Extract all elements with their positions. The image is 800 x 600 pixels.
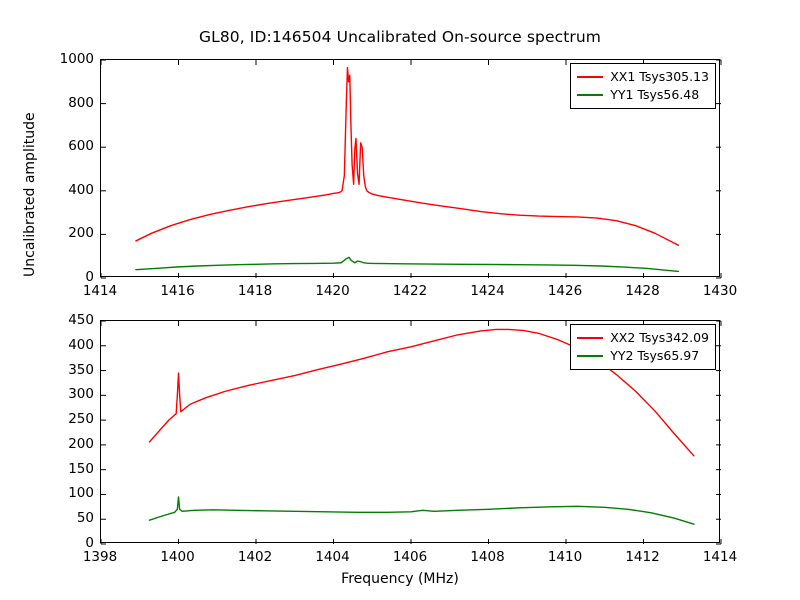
x-tick-label: 1414 <box>703 549 737 565</box>
data-series-line <box>149 497 693 524</box>
x-tick-label: 1402 <box>238 549 272 565</box>
y-tick-label: 400 <box>34 182 94 198</box>
data-series-line <box>136 257 679 271</box>
y-tick-label: 0 <box>34 269 94 285</box>
legend-top: XX1 Tsys305.13YY1 Tsys56.48 <box>570 63 716 109</box>
y-tick-label: 350 <box>34 362 94 378</box>
y-tick-label: 600 <box>34 138 94 154</box>
figure-canvas: GL80, ID:146504 Uncalibrated On-source s… <box>0 0 800 600</box>
y-tick-label: 450 <box>34 312 94 328</box>
y-tick-label: 400 <box>34 337 94 353</box>
x-tick-label: 1404 <box>315 549 349 565</box>
y-tick-label: 800 <box>34 95 94 111</box>
x-tick-label: 1418 <box>238 283 272 299</box>
x-tick-label: 1430 <box>703 283 737 299</box>
x-tick-label: 1428 <box>625 283 659 299</box>
legend-label: XX2 Tsys342.09 <box>610 329 709 347</box>
legend-item[interactable]: XX2 Tsys342.09 <box>577 329 709 347</box>
legend-label: YY1 Tsys56.48 <box>610 86 699 104</box>
x-tick-label: 1410 <box>548 549 582 565</box>
y-tick-label: 0 <box>34 535 94 551</box>
x-tick-label: 1412 <box>625 549 659 565</box>
y-tick-label: 200 <box>34 436 94 452</box>
legend-item[interactable]: YY1 Tsys56.48 <box>577 86 709 104</box>
legend-bottom: XX2 Tsys342.09YY2 Tsys65.97 <box>570 324 716 370</box>
legend-label: YY2 Tsys65.97 <box>610 347 699 365</box>
y-tick-label: 200 <box>34 225 94 241</box>
x-tick-label: 1416 <box>160 283 194 299</box>
x-tick-label: 1426 <box>548 283 582 299</box>
x-tick-label: 1408 <box>470 549 504 565</box>
y-tick-label: 1000 <box>34 51 94 67</box>
x-axis-label: Frequency (MHz) <box>0 571 800 587</box>
legend-item[interactable]: YY2 Tsys65.97 <box>577 347 709 365</box>
page-title: GL80, ID:146504 Uncalibrated On-source s… <box>0 28 800 46</box>
x-tick-label: 1414 <box>83 283 117 299</box>
y-tick-label: 250 <box>34 411 94 427</box>
legend-color-swatch <box>577 76 603 78</box>
x-tick-label: 1424 <box>470 283 504 299</box>
x-tick-label: 1400 <box>160 549 194 565</box>
legend-label: XX1 Tsys305.13 <box>610 68 709 86</box>
y-tick-label: 100 <box>34 485 94 501</box>
legend-color-swatch <box>577 355 603 357</box>
x-tick-label: 1422 <box>393 283 427 299</box>
y-tick-label: 150 <box>34 461 94 477</box>
x-tick-label: 1406 <box>393 549 427 565</box>
legend-color-swatch <box>577 94 603 96</box>
legend-color-swatch <box>577 337 603 339</box>
y-tick-label: 50 <box>34 510 94 526</box>
legend-item[interactable]: XX1 Tsys305.13 <box>577 68 709 86</box>
x-tick-label: 1420 <box>315 283 349 299</box>
x-tick-label: 1398 <box>83 549 117 565</box>
y-tick-label: 300 <box>34 386 94 402</box>
